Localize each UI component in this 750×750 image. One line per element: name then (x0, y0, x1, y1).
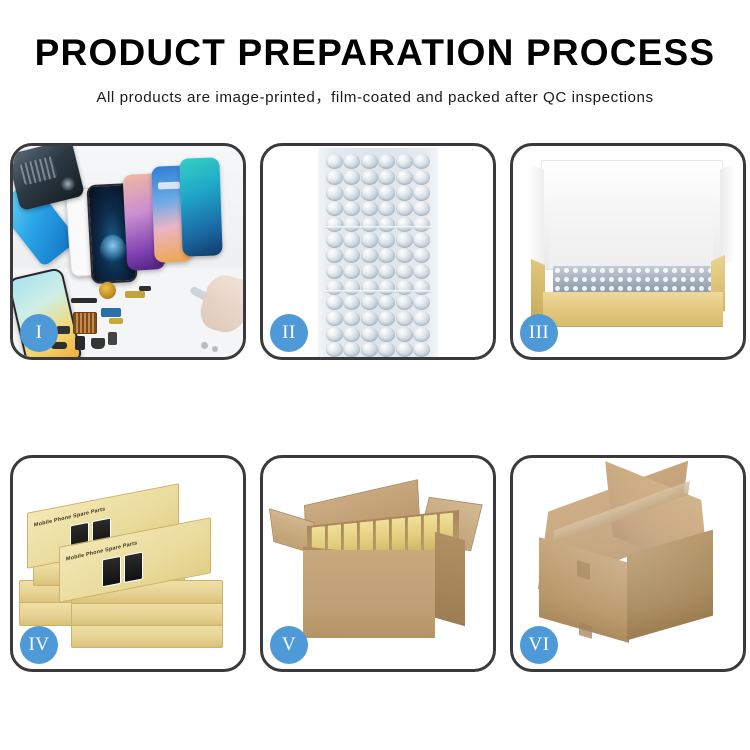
part-button-bracket (108, 332, 117, 345)
bubble (396, 248, 413, 263)
step-badge-2: II (270, 314, 308, 352)
part-sim-tray (75, 336, 85, 350)
carton-handle-slot-top (577, 560, 590, 580)
bubble (326, 154, 343, 169)
bubble (378, 154, 395, 169)
retail-box-textlines-1 (116, 494, 168, 504)
bubble (396, 342, 413, 357)
bubble (378, 232, 395, 247)
bubble (396, 232, 413, 247)
bubble (343, 201, 360, 216)
part-clip (57, 326, 70, 334)
bubble (413, 154, 430, 169)
bubble (413, 217, 430, 232)
bubble (413, 170, 430, 185)
bubble (396, 154, 413, 169)
bubble (343, 232, 360, 247)
bubble (413, 185, 430, 200)
pouch-seam-top (324, 226, 432, 229)
bubble (326, 185, 343, 200)
bubble (361, 232, 378, 247)
bubble (361, 295, 378, 310)
step-panel-5[interactable]: V (260, 455, 496, 672)
bubble (396, 295, 413, 310)
bubble (326, 295, 343, 310)
bubble (396, 264, 413, 279)
bubble (378, 217, 395, 232)
step-badge-3: III (520, 314, 558, 352)
page-subtitle: All products are image-printed，film-coat… (0, 85, 750, 107)
carton-handle-slot-bottom (579, 622, 592, 639)
part-screw-1 (201, 342, 208, 349)
pouch-seam-bottom (324, 290, 432, 293)
bubble (361, 201, 378, 216)
part-connector-small (139, 286, 151, 291)
bubble (343, 311, 360, 326)
bubble (361, 170, 378, 185)
bubble (326, 311, 343, 326)
bubble (361, 154, 378, 169)
step-panel-3[interactable]: III (510, 143, 746, 360)
carton-front-panel (303, 550, 435, 638)
retail-box-screen-2a (102, 556, 121, 588)
bubble (413, 248, 430, 263)
step-badge-6: VI (520, 626, 558, 664)
bubble (343, 170, 360, 185)
bubble (361, 327, 378, 342)
header: PRODUCT PREPARATION PROCESS All products… (0, 0, 750, 107)
bubble (326, 264, 343, 279)
bubble (361, 264, 378, 279)
bubble (378, 295, 395, 310)
bubble (343, 342, 360, 357)
carton-inner-box (407, 516, 421, 553)
bubble (361, 248, 378, 263)
bubble (396, 327, 413, 342)
bubble-wrapped-contents (553, 266, 711, 294)
bubble (378, 248, 395, 263)
bubble (361, 185, 378, 200)
part-connector-grid (73, 312, 97, 334)
bubble (326, 248, 343, 263)
bubble (343, 295, 360, 310)
bubble (343, 264, 360, 279)
retail-box-textlines-2 (148, 528, 200, 538)
carton-side-panel (435, 532, 465, 627)
bubble (396, 170, 413, 185)
page-title: PRODUCT PREPARATION PROCESS (0, 34, 750, 73)
step-badge-4: IV (20, 626, 58, 664)
part-vibration-motor (99, 282, 116, 299)
infographic-page: PRODUCT PREPARATION PROCESS All products… (0, 0, 750, 750)
retail-box-screen-2b (124, 551, 143, 583)
bubble (326, 170, 343, 185)
bubble (378, 342, 395, 357)
part-flex-ribbon-blue (101, 308, 121, 317)
inner-box-front-wall (543, 292, 723, 327)
retail-box-side-8 (71, 602, 223, 626)
bubble (343, 327, 360, 342)
bubble (326, 201, 343, 216)
step-panel-6[interactable]: VI (510, 455, 746, 672)
bubble (378, 311, 395, 326)
bubble (378, 327, 395, 342)
step-panel-4[interactable]: Mobile Phone Spare Parts Mobile Phone Sp… (10, 455, 246, 672)
phone-screen-teal (179, 157, 222, 256)
step-panel-1[interactable]: I (10, 143, 246, 360)
bubble (326, 327, 343, 342)
bubble (378, 170, 395, 185)
bubble (413, 327, 430, 342)
bubble (361, 311, 378, 326)
step-badge-1: I (20, 314, 58, 352)
bubble (361, 217, 378, 232)
bubble-wrap-pouch (318, 148, 438, 357)
bubble (413, 295, 430, 310)
bubble (361, 342, 378, 357)
retail-box-side-7 (71, 624, 223, 648)
bubble (413, 342, 430, 357)
part-speaker-mesh (71, 298, 97, 303)
bubble (343, 154, 360, 169)
bubble (378, 264, 395, 279)
bubble (413, 232, 430, 247)
step-panel-2[interactable]: II (260, 143, 496, 360)
bubble (326, 342, 343, 357)
bubble (396, 217, 413, 232)
part-contact-strip (109, 318, 123, 324)
bubble (326, 232, 343, 247)
step-badge-5: V (270, 626, 308, 664)
part-screw-2 (212, 346, 218, 352)
bubble (343, 248, 360, 263)
inner-box-interior (549, 198, 713, 268)
bubble (396, 185, 413, 200)
bubble (413, 264, 430, 279)
bubble (396, 201, 413, 216)
bubble (413, 311, 430, 326)
bubble (378, 185, 395, 200)
bubble (378, 201, 395, 216)
bubble (326, 217, 343, 232)
bubble (413, 201, 430, 216)
part-flex-cable-gold (125, 291, 145, 298)
part-camera-module (91, 338, 105, 349)
bubble-grid (326, 154, 430, 356)
bubble (343, 185, 360, 200)
bubble (343, 217, 360, 232)
process-steps-grid: I II III (10, 143, 746, 672)
bubble (396, 311, 413, 326)
